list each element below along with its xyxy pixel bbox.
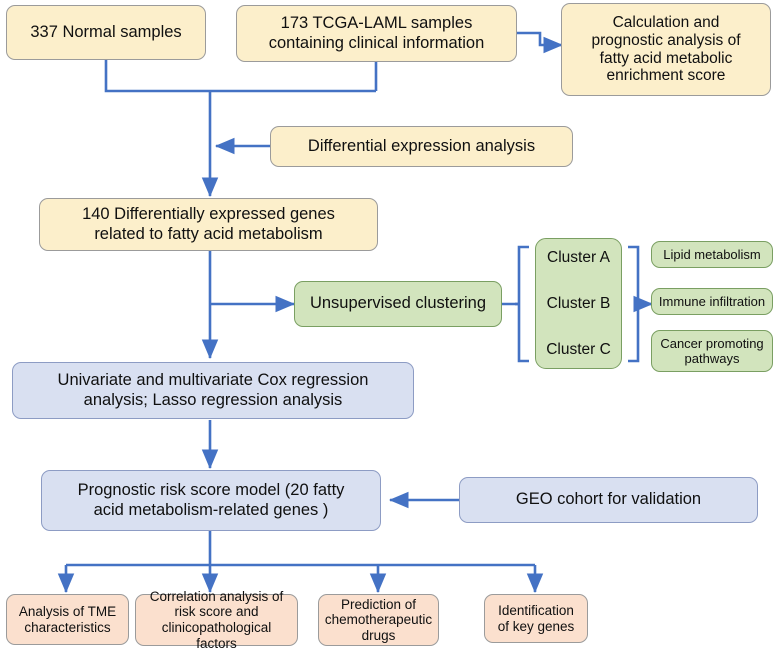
node-downstream-correlation[interactable]: Correlation analysis of risk score and c…	[135, 594, 298, 646]
node-risk-score-model[interactable]: Prognostic risk score model (20 fatty ac…	[41, 470, 381, 531]
node-downstream-key-genes[interactable]: Identification of key genes	[484, 594, 588, 643]
node-geo-cohort[interactable]: GEO cohort for validation	[459, 477, 758, 523]
edge-tcga-to-enrichment	[517, 33, 562, 45]
node-tcga-samples[interactable]: 173 TCGA-LAML samples containing clinica…	[236, 5, 517, 62]
node-downstream-tme[interactable]: Analysis of TME characteristics	[6, 594, 129, 645]
cluster-label-b: Cluster B	[536, 295, 621, 313]
node-cluster-group[interactable]: Cluster A Cluster B Cluster C	[535, 238, 622, 369]
node-outcome-lipid-metabolism[interactable]: Lipid metabolism	[651, 241, 773, 268]
node-outcome-immune-infiltration[interactable]: Immune infiltration	[651, 288, 773, 315]
node-normal-samples[interactable]: 337 Normal samples	[6, 5, 206, 60]
edge-normal-to-merge	[106, 60, 376, 91]
node-enrichment-score[interactable]: Calculation and prognostic analysis of f…	[561, 3, 771, 96]
node-deg-genes[interactable]: 140 Differentially expressed genes relat…	[39, 198, 378, 251]
node-unsupervised-clustering[interactable]: Unsupervised clustering	[294, 281, 502, 327]
cluster-label-c: Cluster C	[536, 341, 621, 359]
cluster-label-a: Cluster A	[536, 249, 621, 267]
bracket-right	[628, 247, 638, 361]
flowchart-canvas: 337 Normal samples 173 TCGA-LAML samples…	[0, 0, 777, 650]
node-outcome-cancer-pathways[interactable]: Cancer promoting pathways	[651, 330, 773, 372]
node-downstream-chemo-drugs[interactable]: Prediction of chemotherapeutic drugs	[318, 594, 439, 646]
node-differential-expression[interactable]: Differential expression analysis	[270, 126, 573, 167]
node-cox-lasso-regression[interactable]: Univariate and multivariate Cox regressi…	[12, 362, 414, 419]
bracket-left	[519, 247, 529, 361]
